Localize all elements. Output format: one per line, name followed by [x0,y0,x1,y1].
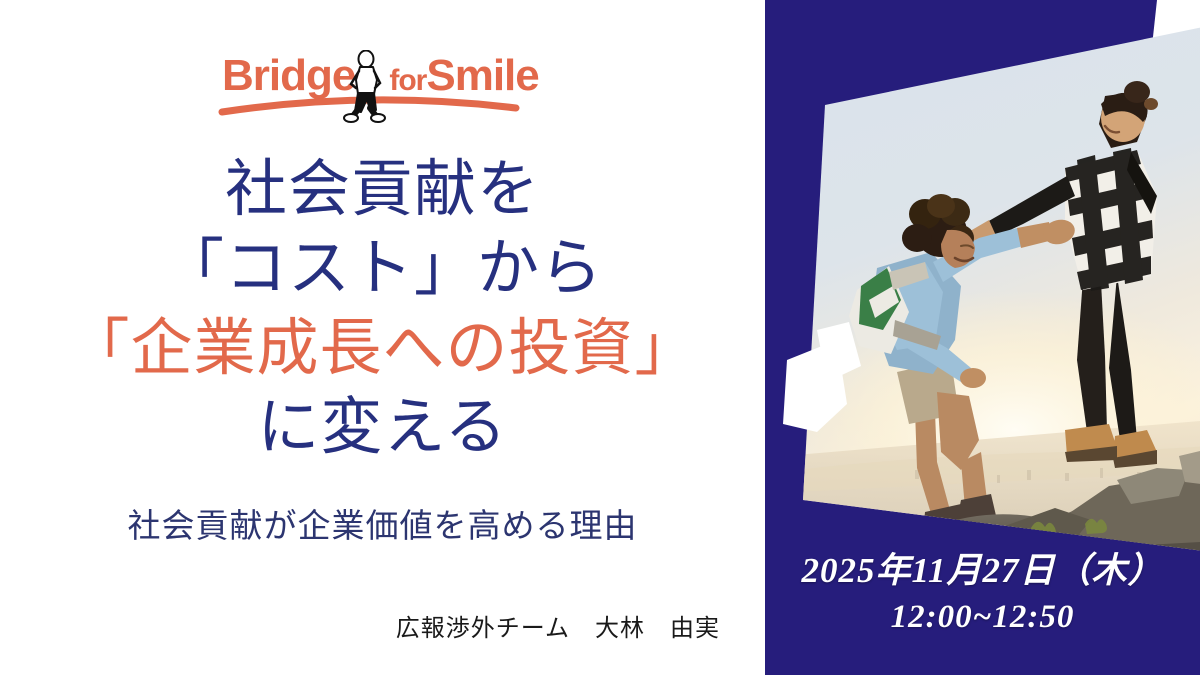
headline-line-3: 「企業成長への投資」 [0,309,765,388]
headline-block: 社会貢献を 「コスト」から 「企業成長への投資」 に変える [0,150,765,467]
headline-line-1: 社会貢献を [0,150,765,229]
presentation-slide: BridgeforSmile [0,0,1200,675]
schedule-date: 2025年11月27日（木） [765,548,1200,595]
right-visual-panel: 2025年11月27日（木） 12:00~12:50 [765,0,1200,675]
walking-person-icon [340,50,392,124]
presenter-credit: 広報渉外チーム 大林 由実 [0,608,720,643]
schedule-time: 12:00~12:50 [765,595,1200,639]
headline-line-2: 「コスト」から [0,229,765,308]
bridge-for-smile-logo: BridgeforSmile [222,48,522,130]
left-content-panel: BridgeforSmile [0,0,765,675]
headline-line-4: に変える [0,388,765,467]
subtitle: 社会貢献が企業価値を高める理由 [0,505,765,548]
schedule-block: 2025年11月27日（木） 12:00~12:50 [765,548,1200,639]
